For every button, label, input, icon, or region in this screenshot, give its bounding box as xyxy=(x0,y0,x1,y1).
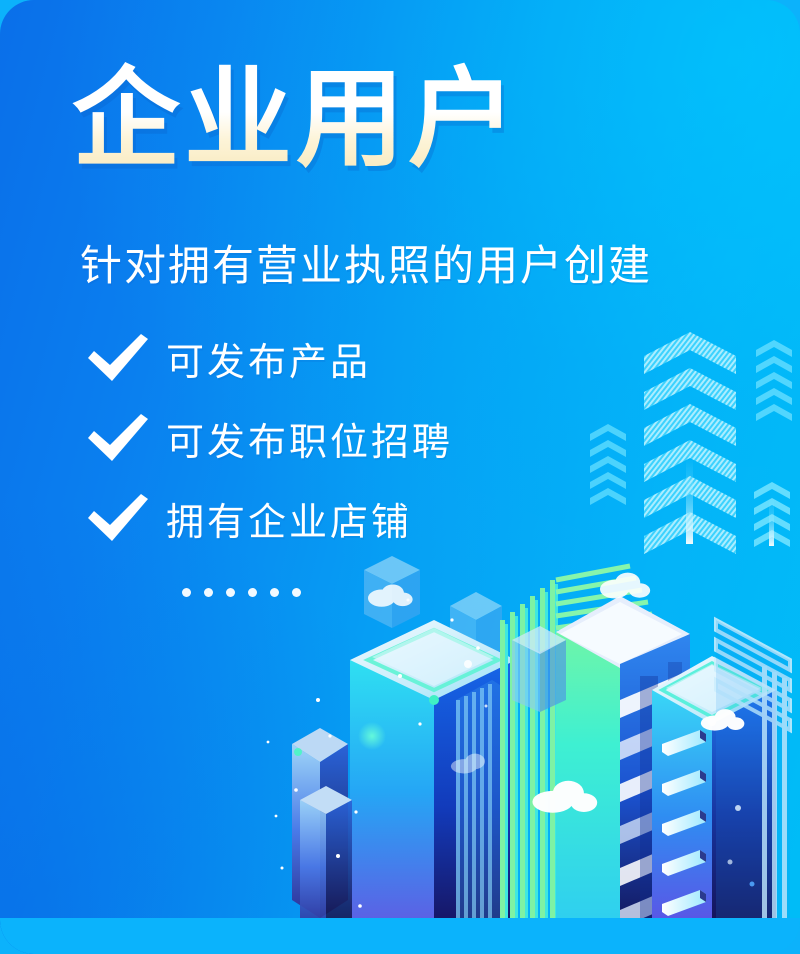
cloud-icon xyxy=(701,709,745,730)
ellipsis-dots xyxy=(182,588,301,597)
tower-center-windows xyxy=(620,662,690,928)
cloud-icon xyxy=(451,754,485,774)
tower-right-main xyxy=(652,656,776,954)
list-item: 可发布产品 xyxy=(84,322,453,394)
tower-right-bars xyxy=(662,730,706,954)
list-item-label: 可发布职位招聘 xyxy=(166,411,453,466)
tower-left-main xyxy=(350,620,516,954)
cloud-icon xyxy=(368,584,413,606)
dot xyxy=(248,588,257,597)
page-title: 企业用户 xyxy=(72,62,520,176)
feature-list: 可发布产品 可发布职位招聘 拥有企业店铺 xyxy=(84,322,453,562)
tower-wireframe-right xyxy=(716,620,790,928)
check-icon xyxy=(84,492,152,544)
dot xyxy=(204,588,213,597)
list-item-label: 可发布产品 xyxy=(166,331,371,386)
dot xyxy=(292,588,301,597)
check-icon xyxy=(84,332,152,384)
dot xyxy=(270,588,279,597)
list-item-label: 拥有企业店铺 xyxy=(166,491,412,546)
sparkle-particles xyxy=(267,599,488,928)
tower-center-stripe-fan xyxy=(500,566,660,940)
tower-center xyxy=(500,566,690,954)
list-item: 拥有企业店铺 xyxy=(84,482,453,554)
dot xyxy=(182,588,191,597)
floating-block-b xyxy=(450,592,502,664)
dot xyxy=(226,588,235,597)
list-item: 可发布职位招聘 xyxy=(84,402,453,474)
check-icon xyxy=(84,412,152,464)
tower-mid-left-small xyxy=(512,626,566,712)
cloud-icon xyxy=(600,573,650,599)
tower-striped-thin-left xyxy=(456,680,508,930)
promo-card: 企业用户 针对拥有营业执照的用户创建 可发布产品 可发布职位招聘 拥有企业店铺 xyxy=(0,0,800,954)
chevron-up-stack-icon xyxy=(588,326,800,586)
tower-left-small xyxy=(300,786,352,934)
tower-striped-thin-right xyxy=(694,690,736,928)
cloud-icon xyxy=(532,781,597,813)
page-subtitle: 针对拥有营业执照的用户创建 xyxy=(80,232,652,293)
tower-far-left xyxy=(292,728,348,918)
floating-block-a xyxy=(364,556,420,628)
